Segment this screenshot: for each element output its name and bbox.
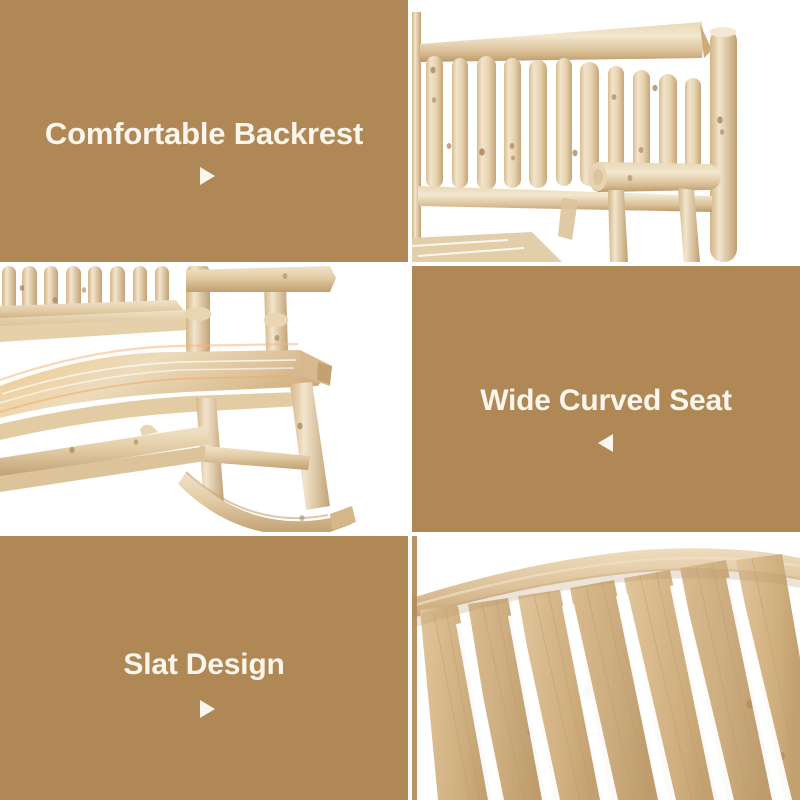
photo-comfortable-backrest bbox=[412, 0, 800, 262]
panel-wide-curved-seat: Wide Curved Seat bbox=[412, 266, 800, 532]
arrow-left-icon bbox=[598, 434, 613, 452]
panel-slat-design: Slat Design bbox=[0, 536, 408, 800]
bench-backrest-illustration bbox=[412, 0, 800, 262]
caption-slat-design: Slat Design bbox=[0, 650, 408, 680]
panel-comfortable-backrest: Comfortable Backrest bbox=[0, 0, 408, 262]
photo-slat-design bbox=[412, 536, 800, 800]
arrow-right-icon bbox=[200, 167, 215, 185]
arrow-right-icon bbox=[200, 700, 215, 718]
seat-slats-illustration bbox=[412, 536, 800, 800]
photo-wide-curved-seat bbox=[0, 266, 408, 532]
caption-comfortable-backrest: Comfortable Backrest bbox=[0, 118, 408, 149]
caption-wide-curved-seat: Wide Curved Seat bbox=[412, 386, 800, 416]
infographic-board: Comfortable Backrest bbox=[0, 0, 800, 800]
rocking-bench-side-illustration bbox=[0, 266, 408, 532]
